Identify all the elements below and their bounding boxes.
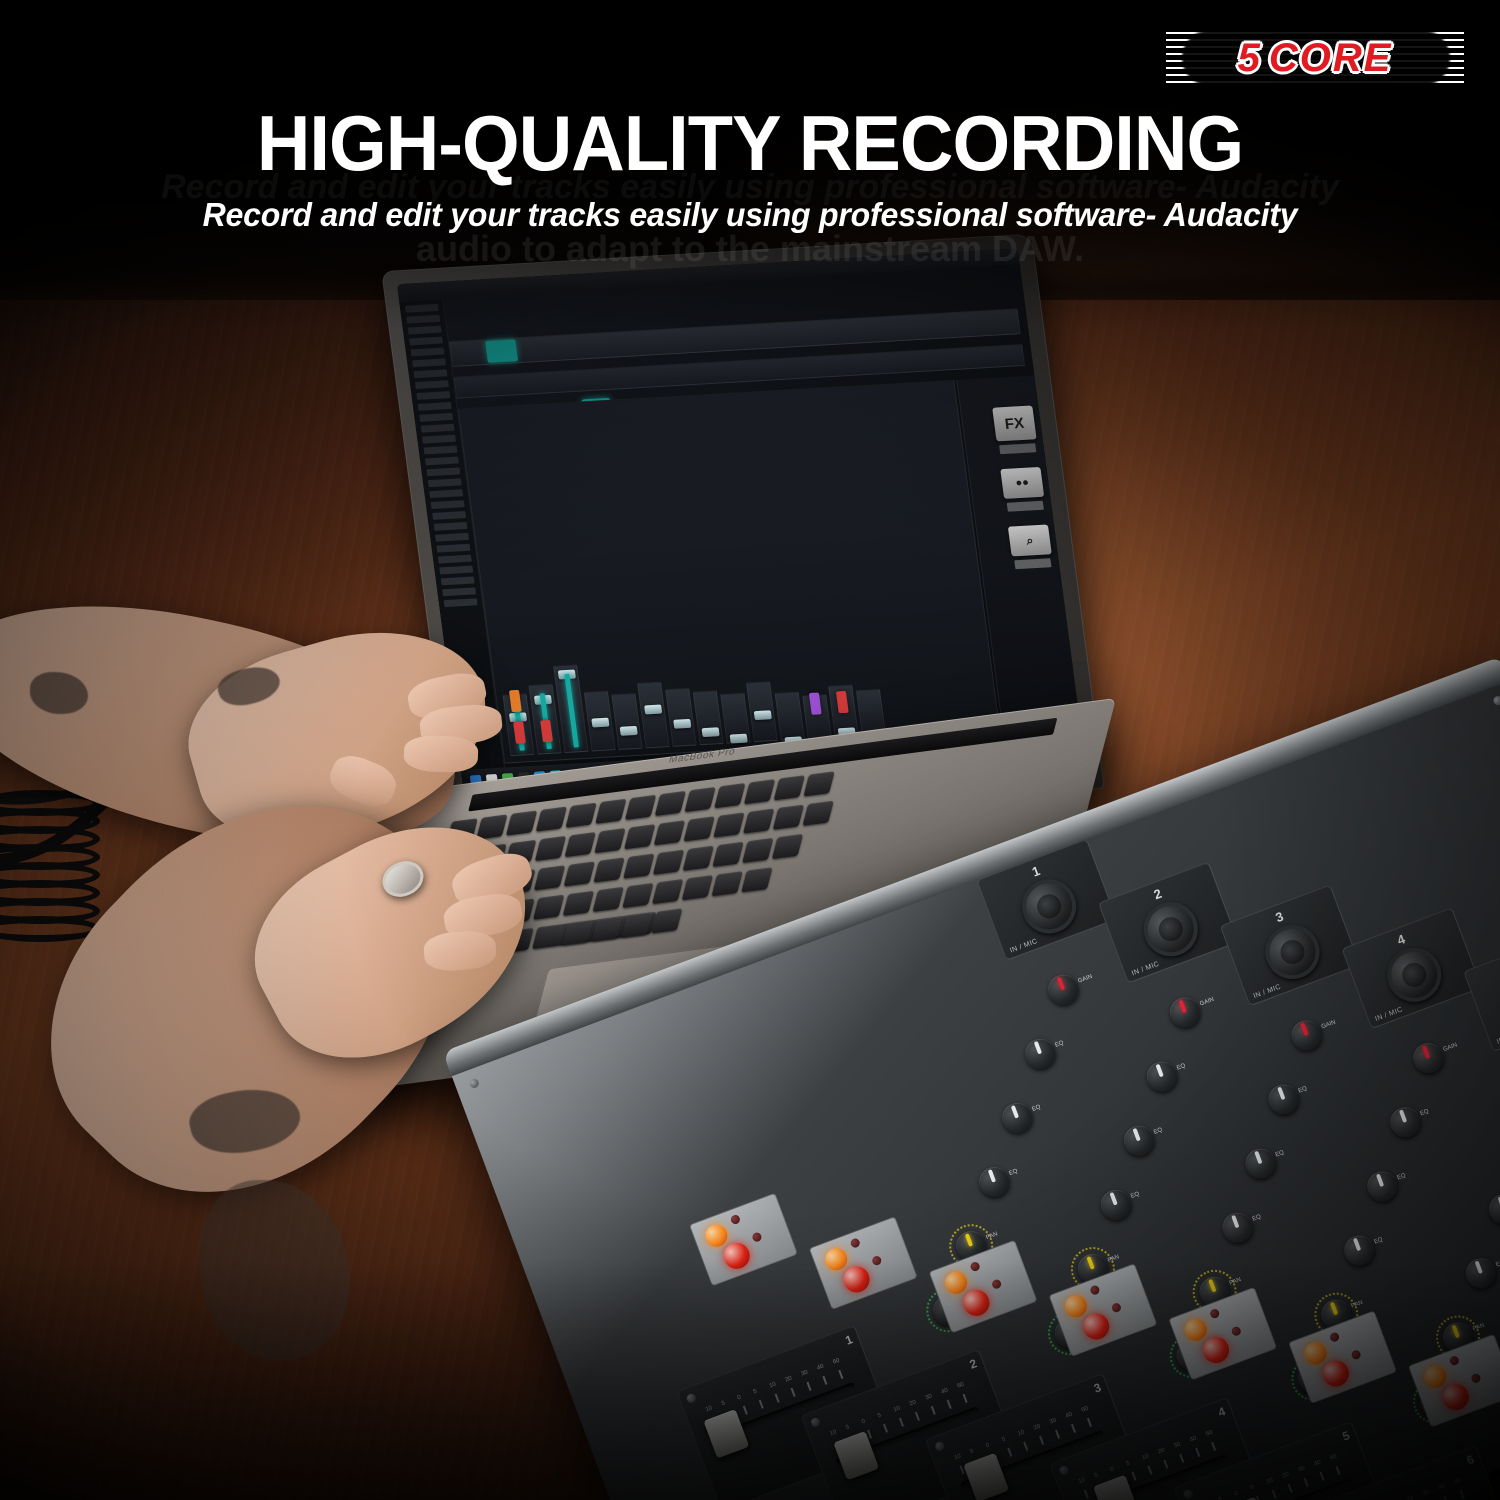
mixer-channel-strip[interactable] [693,690,724,745]
fader-scale-tick [1179,1454,1184,1463]
keyboard-key[interactable] [803,771,834,796]
fader-scale-tick [1055,1430,1060,1439]
fader-scale-label: 5 [1094,1473,1099,1480]
knob-indicator [1475,1260,1483,1274]
keyboard-key[interactable] [535,836,566,861]
fader-channel-number: 1 [843,1332,854,1347]
fader-scale-tick [947,1400,952,1409]
fader-scale-label: 10 [953,1453,961,1461]
fader-scale-tick [838,1370,843,1379]
logo-number: 5 [1238,36,1261,81]
keyboard-key[interactable] [534,865,565,890]
fader-scale-label: 40 [941,1388,949,1396]
fader-scale-label: 20 [1406,1496,1414,1500]
marketing-banner: FX ●● ⌕ [0,0,1500,1500]
keyboard-key[interactable] [773,805,804,830]
fader-scale-tick [1132,1472,1137,1481]
indicator-dot[interactable] [849,1237,861,1249]
fader-scale-label: 10 [705,1405,713,1413]
fx-label-strip [1007,501,1044,512]
knob-indicator [1011,1105,1019,1119]
peak-led-button[interactable] [1182,1316,1210,1344]
fader-scale-tick [963,1394,968,1403]
daw-menu-bar[interactable] [397,248,1020,300]
knob-indicator [988,1169,996,1183]
channel-fader-handle[interactable] [963,1453,1009,1500]
fader-scale-label: 30 [1298,1466,1306,1474]
fader-scale-label: 20 [1157,1448,1165,1456]
fader-scale-label: 10 [1141,1453,1149,1461]
knob-indicator [965,1233,973,1247]
keyboard-key[interactable] [592,887,623,912]
fader-scale-label: 10 [829,1429,837,1437]
screw [468,1078,480,1090]
indicator-dot[interactable] [1230,1325,1242,1337]
fader-scale-tick [931,1406,936,1415]
finger [403,735,478,774]
peak-led-button[interactable] [1301,1339,1329,1367]
fader-scale-tick [1071,1424,1076,1433]
fader-scale-tick [1007,1448,1012,1457]
fader-scale-label: 40 [1065,1412,1073,1420]
screw [1183,1489,1195,1500]
logo-word: CORE [1269,36,1393,81]
fader-scale-tick [1335,1466,1340,1475]
keyboard-key[interactable] [506,810,537,835]
channel-fader[interactable] [730,734,748,744]
fader-scale-label: 0 [985,1443,990,1450]
peak-led-button[interactable] [1421,1363,1449,1391]
fader-scale-tick [1256,1496,1261,1500]
fader-scale-label: 10 [1017,1429,1025,1437]
fader-scale-tick [1087,1418,1092,1427]
fader-scale-label: 40 [1438,1484,1446,1492]
fader-scale-label: 10 [769,1381,777,1389]
channel-fader[interactable] [591,718,609,728]
keyboard-key[interactable] [652,879,683,904]
knob-indicator [1422,1045,1430,1059]
fader-scale-tick [1195,1448,1200,1457]
fader-scale-label: 5 [845,1425,850,1432]
knob-indicator [1132,1128,1140,1142]
keyboard-key[interactable] [772,834,803,859]
knob-indicator [1330,1302,1338,1316]
fader-scale-label: 30 [1049,1418,1057,1426]
signal-led-button[interactable] [840,1263,873,1296]
fader-scale-label: 40 [816,1364,824,1372]
knob-indicator [1300,1022,1308,1036]
mixer-channel-strip[interactable] [720,693,751,744]
keyboard-key[interactable] [684,787,715,812]
keyboard-key[interactable] [655,791,686,816]
knob-indicator [1376,1174,1384,1188]
fader-scale-tick [1304,1478,1309,1487]
indicator-dot[interactable] [1350,1349,1362,1361]
fader-scale-label: 10 [893,1405,901,1413]
fader-scale-tick [1163,1460,1168,1469]
screw [685,1393,697,1405]
screw [1492,695,1500,707]
indicator-dot[interactable] [871,1255,883,1267]
screw [810,1417,822,1429]
fader-track[interactable] [1208,1478,1353,1500]
keyboard-key[interactable] [743,808,774,833]
fader-channel-number: 4 [1216,1404,1227,1419]
fader-scale-tick [883,1424,888,1433]
indicator-dot[interactable] [1089,1284,1101,1296]
keyboard-key[interactable] [594,828,625,853]
brand-logo[interactable]: 5 CORE [1160,24,1470,92]
fader-scale-label: 20 [1033,1424,1041,1432]
fx-preset-button[interactable]: ●● [1000,467,1044,499]
keyboard-key[interactable] [802,801,833,826]
fader-scale-label: 5 [1125,1461,1130,1468]
fader-scale-label: 10 [1078,1477,1086,1485]
indicator-dot[interactable] [991,1278,1003,1290]
keyboard-key[interactable] [564,861,595,886]
fader-scale-tick [1320,1472,1325,1481]
keyboard-key[interactable] [774,775,805,800]
fader-scale-tick [775,1394,780,1403]
fader-scale-label: 30 [1173,1442,1181,1450]
fader-scale-label: 60 [957,1382,965,1390]
daw-software-window: FX ●● ⌕ [397,248,1084,791]
knob-indicator [1277,1087,1285,1101]
fader-channel-number: 6 [1465,1452,1476,1467]
fader-scale-label: 5 [721,1401,726,1408]
mixer-channel-strip[interactable] [775,692,805,741]
signal-led-button[interactable] [1439,1380,1472,1413]
keyboard-key[interactable] [563,891,594,916]
fader-scale-tick [915,1412,920,1421]
keyboard-key[interactable] [565,803,596,828]
fader-scale-tick [791,1388,796,1397]
fx-browse-button[interactable]: ⌕ [1008,524,1052,556]
fx-label-strip [999,443,1036,454]
fader-scale-tick [1211,1442,1216,1451]
fader-scale-label: 60 [1454,1478,1462,1486]
peak-led-button[interactable] [702,1222,730,1250]
fader-scale-label: 60 [1329,1454,1337,1462]
fader-scale-label: 5 [753,1389,758,1396]
indicator-dot[interactable] [730,1214,742,1226]
knob-indicator [1208,1279,1216,1293]
keyboard-key[interactable] [742,838,773,863]
keyboard-key[interactable] [682,875,713,900]
channel-fader-handle[interactable] [1093,1475,1139,1500]
keyboard-key[interactable] [533,895,564,920]
fader-scale-label: 60 [1081,1406,1089,1414]
mixer-channel-strip[interactable] [746,681,778,742]
fader-scale-label: 60 [1205,1430,1213,1438]
fader-scale-tick [759,1400,764,1409]
fader-scale-tick [899,1418,904,1427]
fader-scale-label: 40 [1189,1436,1197,1444]
peak-led-button[interactable] [942,1269,970,1297]
indicator-dot[interactable] [1449,1355,1461,1367]
keyboard-key[interactable] [622,883,653,908]
indicator-dot[interactable] [751,1231,763,1243]
screw [934,1441,946,1453]
fader-scale-tick [1288,1484,1293,1493]
knob-indicator [1109,1192,1117,1206]
keyboard-key[interactable] [623,853,654,878]
fader-scale-label: 5 [1250,1485,1255,1492]
level-meter [564,674,579,748]
channel-fader-handle[interactable] [1223,1497,1269,1500]
fader-scale-tick [1039,1436,1044,1445]
fx-button[interactable]: FX [992,405,1036,441]
channel-fader-handle[interactable] [703,1409,749,1458]
channel-fader-handle[interactable] [833,1431,879,1480]
mixer-channel-strip[interactable] [611,693,642,750]
fader-scale-label: 40 [1313,1460,1321,1468]
peak-led-button[interactable] [1062,1292,1090,1320]
fader-scale-tick [806,1382,811,1391]
screw [1058,1465,1070,1477]
daw-mixer-panel[interactable] [458,380,1001,764]
knob-indicator [1353,1238,1361,1252]
keyboard-key[interactable] [595,799,626,824]
mixer-channel-strip[interactable] [665,688,697,747]
keyboard-key[interactable] [624,824,655,849]
indicator-dot[interactable] [1209,1308,1221,1320]
keyboard-key[interactable] [593,857,624,882]
page-title: HIGH-QUALITY RECORDING [38,98,1463,189]
fader-channel-number: 2 [968,1356,979,1371]
fader-scale-label: 30 [1422,1490,1430,1498]
fader-scale-tick [1460,1490,1465,1499]
channel-fader[interactable] [702,727,720,737]
keyboard-key[interactable] [536,807,567,832]
fader-scale-tick [1272,1490,1277,1499]
peak-led-button[interactable] [822,1245,850,1273]
fader-scale-label: 20 [909,1400,917,1408]
fader-scale-label: 20 [784,1376,792,1384]
fader-scale-label: 5 [1218,1497,1223,1500]
keyboard-key[interactable] [654,820,685,845]
knob-indicator [1231,1215,1239,1229]
signal-led-button[interactable] [1199,1333,1232,1366]
logo-wordmark: 5 CORE [1160,24,1470,92]
keyboard-key[interactable] [683,846,714,871]
knob-indicator [1399,1109,1407,1123]
indicator-dot[interactable] [969,1261,981,1273]
keyboard-key[interactable] [711,871,742,896]
keyboard-key[interactable] [713,812,744,837]
keyboard-key[interactable] [714,783,745,808]
audio-clip[interactable] [485,339,518,363]
indicator-dot[interactable] [1329,1331,1341,1343]
laptop-screen: FX ●● ⌕ [397,248,1084,791]
fader-scale-label: 20 [1282,1472,1290,1480]
fx-label-strip [1014,558,1051,569]
signal-led-button[interactable] [960,1286,993,1319]
page-subtitle: Record and edit your tracks easily using… [23,196,1478,234]
fader-scale-tick [822,1376,827,1385]
keyboard-key[interactable] [564,832,595,857]
indicator-dot[interactable] [1111,1302,1123,1314]
fader-scale-label: 5 [877,1413,882,1420]
fader-scale-label: 60 [832,1358,840,1366]
knob-indicator [1034,1041,1042,1055]
fader-scale-label: 10 [1266,1477,1274,1485]
knob-indicator [1178,1000,1186,1014]
fader-scale-tick [1147,1466,1152,1475]
knob-indicator [1086,1256,1094,1270]
knob-indicator [1452,1325,1460,1339]
fader-scale-label: 30 [800,1370,808,1378]
fader-scale-tick [743,1406,748,1415]
fader-scale-label: 5 [1001,1437,1006,1444]
channel-fader[interactable] [754,710,772,720]
signal-led-button[interactable] [1079,1310,1112,1343]
fader-channel-number: 5 [1340,1428,1351,1443]
keyboard-key[interactable] [683,816,714,841]
keyboard-key[interactable] [712,842,743,867]
fader-scale-label: 0 [1234,1491,1239,1498]
channel-fader[interactable] [673,719,691,729]
channel-fader[interactable] [620,726,638,736]
keyboard-key[interactable] [741,867,772,892]
fader-scale-tick [1444,1496,1449,1500]
indicator-dot[interactable] [1470,1372,1482,1384]
mixer-channel-strip[interactable] [584,691,616,752]
fader-scale-tick [1023,1442,1028,1451]
fader-scale-tick [1084,1489,1089,1498]
signal-led-button[interactable] [1319,1357,1352,1390]
fader-scale-label: 0 [737,1395,742,1402]
knob-indicator [1057,977,1065,991]
fader-channel-number: 3 [1092,1380,1103,1395]
signal-led-button[interactable] [720,1239,753,1272]
fader-scale-label: 5 [969,1449,974,1456]
channel-fader[interactable] [644,705,662,715]
knob-indicator [1254,1151,1262,1165]
fader-scale-label: 0 [1110,1467,1115,1474]
fader-scale-label: 30 [925,1394,933,1402]
keyboard-key[interactable] [625,795,656,820]
in-mic-label: IN / MIC [1496,1029,1500,1046]
keyboard-key[interactable] [653,850,684,875]
keyboard-key[interactable] [744,779,775,804]
fader-scale-label: 0 [861,1419,866,1426]
knob-indicator [1155,1064,1163,1078]
